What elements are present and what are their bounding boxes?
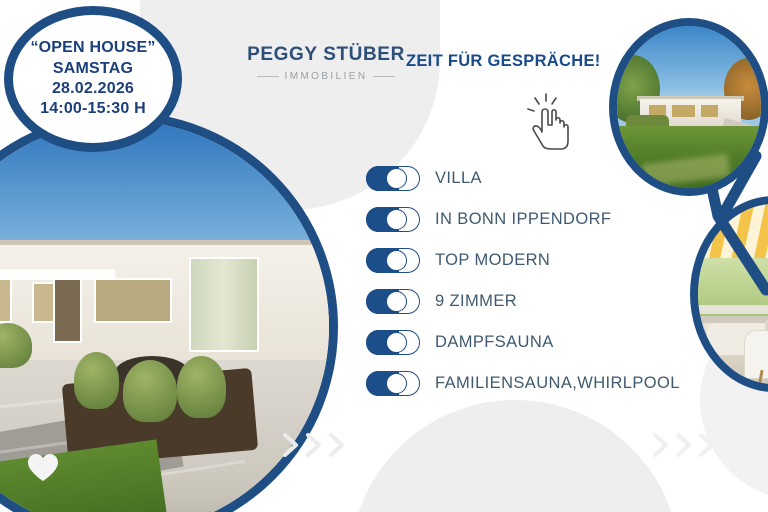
toggle-knob xyxy=(386,209,407,230)
badge-weekday: SAMSTAG xyxy=(53,59,133,79)
list-item[interactable]: FAMILIENSAUNA,WHIRLPOOL xyxy=(366,363,716,404)
feature-label: 9 ZIMMER xyxy=(435,292,517,311)
background-circle-bottom xyxy=(350,400,680,512)
logo-subtitle: IMMOBILIEN xyxy=(285,71,368,82)
headline: ZEIT FÜR GESPRÄCHE! xyxy=(406,52,601,71)
feature-toggle-location[interactable] xyxy=(366,207,420,232)
open-house-badge: “OPEN HOUSE” SAMSTAG 28.02.2026 14:00-15… xyxy=(4,6,182,152)
feature-toggle-rooms[interactable] xyxy=(366,289,420,314)
logo-rule-left xyxy=(257,76,279,77)
triple-chevron-right-icon xyxy=(652,432,718,458)
villa-exterior-lawn-photo xyxy=(617,26,761,188)
toggle-knob xyxy=(386,291,407,312)
feature-label: FAMILIENSAUNA,WHIRLPOOL xyxy=(435,374,680,393)
toggle-knob xyxy=(386,373,407,394)
badge-date: 28.02.2026 xyxy=(52,79,134,99)
feature-toggle-top-modern[interactable] xyxy=(366,248,420,273)
badge-time: 14:00-15:30 H xyxy=(40,99,146,119)
feature-toggle-villa[interactable] xyxy=(366,166,420,191)
list-item[interactable]: DAMPFSAUNA xyxy=(366,322,716,363)
logo-name: PEGGY STÜBER xyxy=(246,44,406,66)
toggle-knob xyxy=(386,332,407,353)
brand-logo: PEGGY STÜBER IMMOBILIEN xyxy=(246,44,406,82)
villa-exterior-photo-lens xyxy=(609,18,768,196)
triple-chevron-right-icon xyxy=(282,432,348,458)
feature-label: DAMPFSAUNA xyxy=(435,333,554,352)
feature-label: IN BONN IPPENDORF xyxy=(435,210,611,229)
toggle-knob xyxy=(386,168,407,189)
feature-toggle-steam-sauna[interactable] xyxy=(366,330,420,355)
feature-toggle-family-sauna-whirlpool[interactable] xyxy=(366,371,420,396)
logo-rule-right xyxy=(373,76,395,77)
heart-icon xyxy=(26,452,60,483)
feature-label: TOP MODERN xyxy=(435,251,550,270)
feature-label: VILLA xyxy=(435,169,482,188)
toggle-knob xyxy=(386,250,407,271)
marketing-flyer-canvas: “OPEN HOUSE” SAMSTAG 28.02.2026 14:00-15… xyxy=(0,0,768,512)
badge-title: “OPEN HOUSE” xyxy=(30,38,155,58)
pointing-hand-click-icon xyxy=(527,92,575,150)
